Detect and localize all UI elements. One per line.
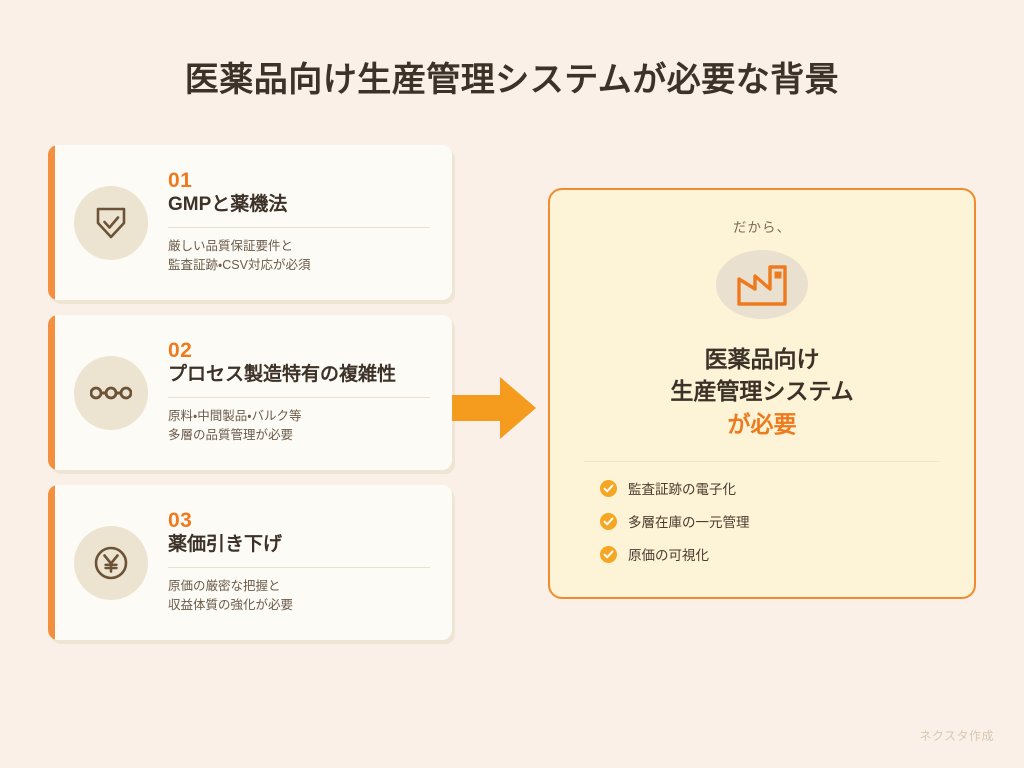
conclusion-headline-line1: 医薬品向け: [670, 343, 853, 376]
conclusion-headline-line2: 生産管理システム: [670, 375, 853, 408]
benefit-item: 原価の可視化: [600, 544, 940, 564]
check-circle-icon: [600, 546, 617, 563]
conclusion-icon-circle: [716, 250, 808, 319]
conclusion-panel: だから、 医薬品向け 生産管理システム が必要 監査証跡の電子化 多層在庫の一元…: [548, 188, 976, 599]
card-description: 原価の厳密な把握と 収益体質の強化が必要: [168, 577, 430, 616]
page-title: 医薬品向け生産管理システムが必要な背景: [0, 52, 1024, 101]
card-body: 01 GMPと薬機法 厳しい品質保証要件と 監査証跡・CSV対応が必須: [148, 169, 452, 276]
card-heading: 薬価引き下げ: [168, 533, 430, 568]
shield-check-icon: [92, 204, 130, 242]
card-description-line: 原料・中間製品・バルク等: [168, 407, 430, 426]
flow-arrow: [452, 375, 536, 441]
benefit-label: 多層在庫の一元管理: [628, 511, 750, 531]
card-number: 03: [168, 509, 430, 533]
card-number: 01: [168, 169, 430, 193]
card-accent-bar: [48, 145, 55, 300]
reason-card-list: 01 GMPと薬機法 厳しい品質保証要件と 監査証跡・CSV対応が必須 02 プ…: [48, 145, 452, 655]
card-accent-bar: [48, 485, 55, 640]
benefit-label: 監査証跡の電子化: [628, 478, 736, 498]
card-description-line: 厳しい品質保証要件と: [168, 237, 430, 256]
conclusion-headline: 医薬品向け 生産管理システム が必要: [670, 343, 853, 441]
footer-credit: ネクスタ作成: [919, 727, 994, 744]
card-number: 02: [168, 339, 430, 363]
card-body: 02 プロセス製造特有の複雑性 原料・中間製品・バルク等 多層の品質管理が必要: [148, 339, 452, 446]
arrow-right-icon: [452, 375, 536, 441]
card-heading: プロセス製造特有の複雑性: [168, 363, 430, 398]
card-description: 厳しい品質保証要件と 監査証跡・CSV対応が必須: [168, 237, 430, 276]
reason-card[interactable]: 02 プロセス製造特有の複雑性 原料・中間製品・バルク等 多層の品質管理が必要: [48, 315, 452, 470]
reason-card[interactable]: 01 GMPと薬機法 厳しい品質保証要件と 監査証跡・CSV対応が必須: [48, 145, 452, 300]
card-body: 03 薬価引き下げ 原価の厳密な把握と 収益体質の強化が必要: [148, 509, 452, 616]
benefit-item: 多層在庫の一元管理: [600, 511, 940, 531]
factory-icon: [736, 259, 788, 309]
benefit-item: 監査証跡の電子化: [600, 478, 940, 498]
benefit-label: 原価の可視化: [628, 544, 709, 564]
yen-coin-icon: [91, 543, 131, 583]
card-description-line: 監査証跡・CSV対応が必須: [168, 256, 430, 275]
card-accent-bar: [48, 315, 55, 470]
card-description-line: 収益体質の強化が必要: [168, 596, 430, 615]
check-circle-icon: [600, 513, 617, 530]
card-heading: GMPと薬機法: [168, 193, 430, 228]
card-description: 原料・中間製品・バルク等 多層の品質管理が必要: [168, 407, 430, 446]
conclusion-headline-accent: が必要: [670, 408, 853, 441]
card-description-line: 多層の品質管理が必要: [168, 426, 430, 445]
card-description-line: 原価の厳密な把握と: [168, 577, 430, 596]
conclusion-lead: だから、: [733, 216, 791, 236]
benefit-list: 監査証跡の電子化 多層在庫の一元管理 原価の可視化: [584, 478, 940, 577]
card-icon-circle: [74, 356, 148, 430]
card-icon-circle: [74, 526, 148, 600]
conclusion-divider: [584, 461, 940, 462]
card-icon-circle: [74, 186, 148, 260]
process-chain-icon: [90, 383, 132, 403]
check-circle-icon: [600, 480, 617, 497]
reason-card[interactable]: 03 薬価引き下げ 原価の厳密な把握と 収益体質の強化が必要: [48, 485, 452, 640]
